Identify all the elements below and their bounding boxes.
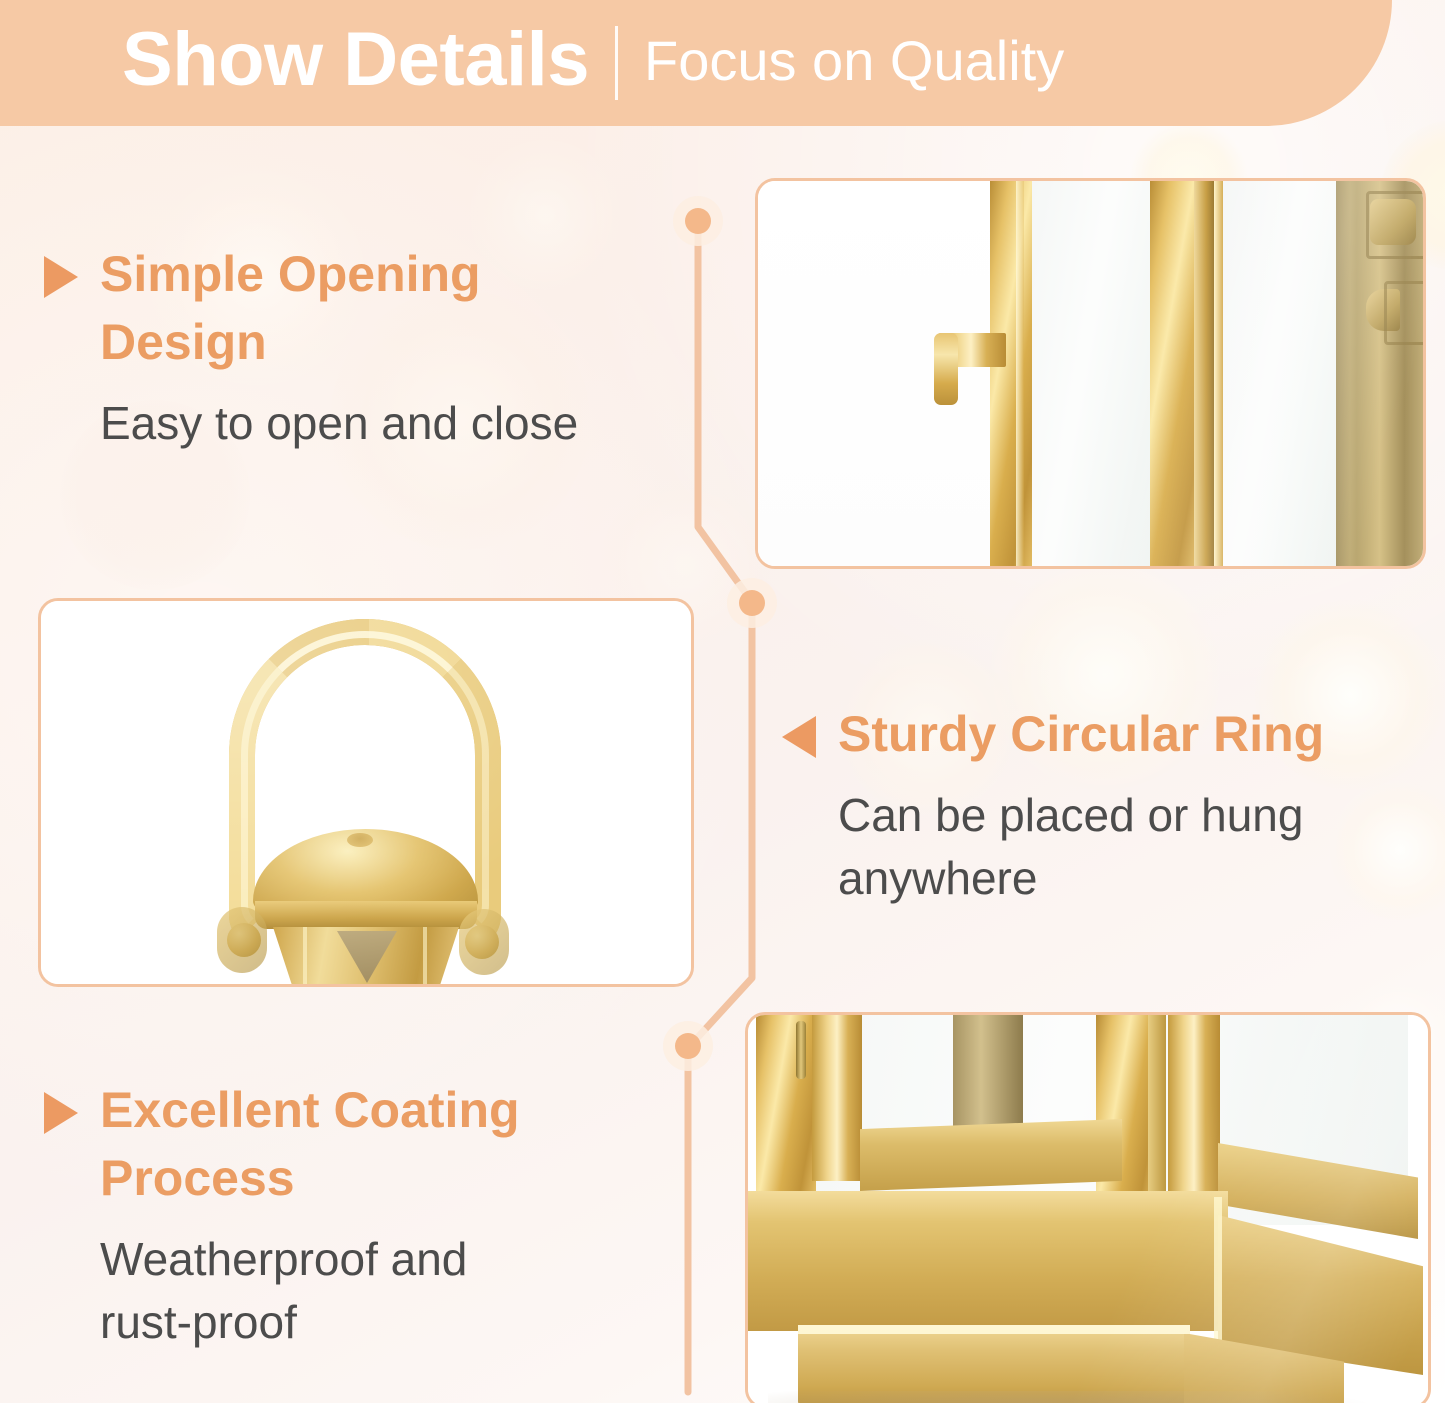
connector-dot-bottom-halo	[663, 1021, 713, 1071]
door-latch-closeup	[758, 181, 1423, 566]
connector-dot-middle-halo	[727, 578, 777, 628]
feature-heading-row: Excellent Coating Process	[44, 1076, 664, 1212]
handle-ring-closeup	[41, 601, 691, 984]
triangle-right-icon	[44, 256, 78, 298]
photo-glare	[748, 1015, 1428, 1403]
feature-heading-row: Simple Opening Design	[44, 240, 664, 376]
photo-card-handle-ring	[38, 598, 694, 987]
connector-line-middle	[688, 602, 752, 1048]
feature-sturdy-circular-ring: Sturdy Circular Ring Can be placed or hu…	[782, 700, 1402, 911]
page-title: Show Details	[122, 22, 589, 104]
feature-heading-row: Sturdy Circular Ring	[782, 700, 1402, 768]
feature-description: Easy to open and close	[100, 392, 660, 455]
feature-excellent-coating-process: Excellent Coating Process Weatherproof a…	[44, 1076, 664, 1355]
connector-dot-top-halo	[673, 196, 723, 246]
feature-title: Sturdy Circular Ring	[838, 700, 1324, 768]
photo-card-door-latch	[755, 178, 1426, 569]
feature-title: Simple Opening Design	[100, 240, 620, 376]
photo-card-base	[745, 1012, 1431, 1403]
photo-glare	[41, 601, 691, 984]
triangle-left-icon	[782, 716, 816, 758]
triangle-right-icon	[44, 1092, 78, 1134]
header-subtitle: Focus on Quality	[644, 33, 1064, 94]
header-content: Show Details Focus on Quality	[122, 0, 1064, 126]
base-closeup	[748, 1015, 1428, 1403]
header-banner: Show Details Focus on Quality	[0, 0, 1392, 126]
feature-description: Can be placed or hung anywhere	[838, 784, 1378, 911]
header-divider	[615, 26, 618, 100]
photo-glare	[758, 181, 1423, 566]
connector-dot-middle	[739, 590, 765, 616]
connector-dot-top	[685, 208, 711, 234]
feature-simple-opening-design: Simple Opening Design Easy to open and c…	[44, 240, 664, 455]
connector-dot-bottom	[675, 1033, 701, 1059]
feature-description: Weatherproof and rust-proof	[100, 1228, 570, 1355]
product-detail-infographic: Show Details Focus on Quality	[0, 0, 1445, 1403]
connector-line-top	[698, 224, 752, 602]
feature-title: Excellent Coating Process	[100, 1076, 590, 1212]
